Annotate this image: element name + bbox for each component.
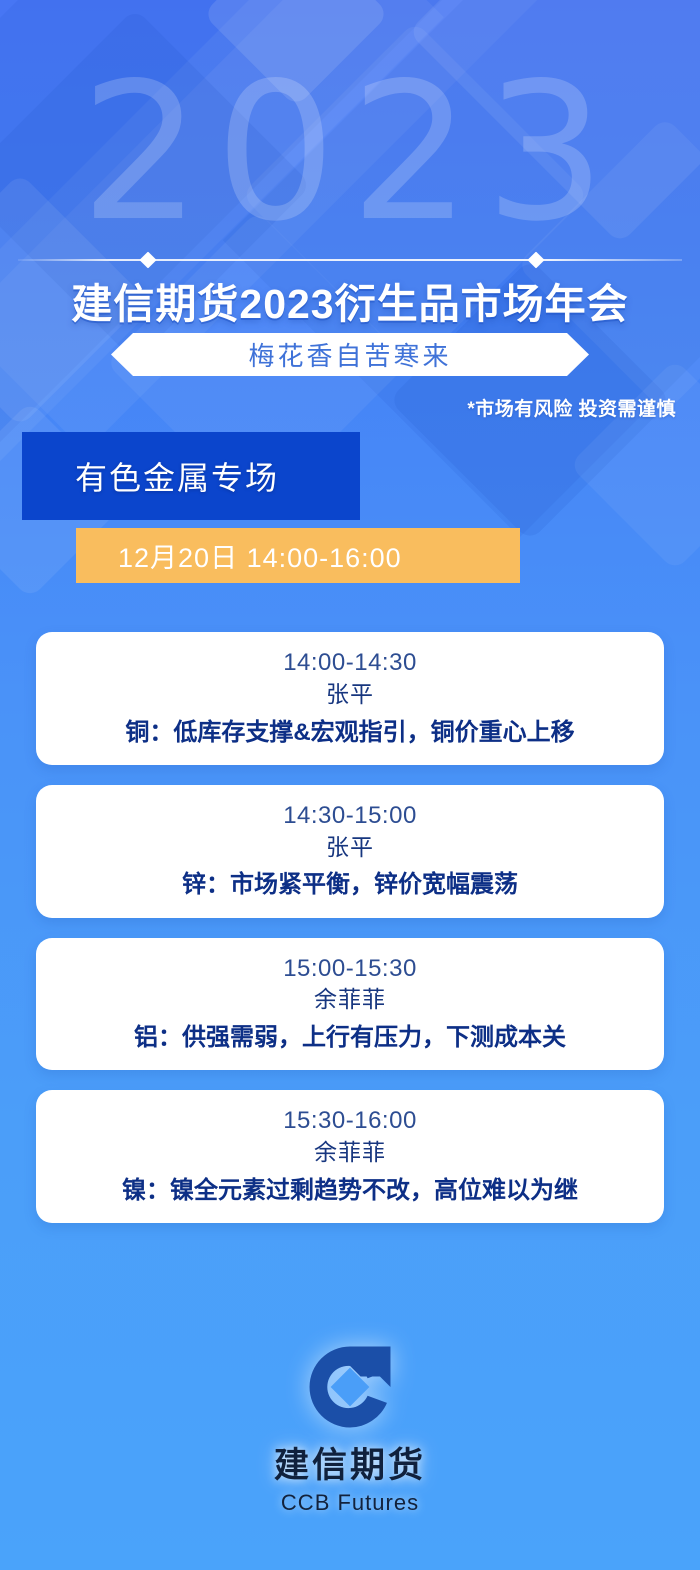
- diamond-marker-left-icon: [140, 252, 157, 269]
- session-title-box: 有色金属专场: [22, 432, 360, 520]
- agenda-speaker: 余菲菲: [50, 1138, 650, 1168]
- ccb-logo-icon: [306, 1343, 394, 1431]
- agenda-time: 14:00-14:30: [50, 648, 650, 679]
- divider-line: [18, 259, 682, 261]
- agenda-topic: 铝：供强需弱，上行有压力，下测成本关: [50, 1022, 650, 1053]
- agenda-time: 14:30-15:00: [50, 801, 650, 832]
- session-datetime-badge: 12月20日 14:00-16:00: [76, 528, 520, 583]
- agenda-topic: 镍：镍全元素过剩趋势不改，高位难以为继: [50, 1175, 650, 1206]
- session-datetime-label: 12月20日 14:00-16:00: [118, 536, 402, 575]
- agenda-speaker: 张平: [50, 833, 650, 863]
- header-divider: [18, 259, 682, 261]
- agenda-time: 15:30-16:00: [50, 1106, 650, 1137]
- diamond-marker-right-icon: [528, 252, 545, 269]
- agenda-speaker: 余菲菲: [50, 985, 650, 1015]
- subtitle-banner: 梅花香自苦寒来: [111, 333, 589, 376]
- agenda-speaker: 张平: [50, 680, 650, 710]
- subtitle-banner-wrap: 梅花香自苦寒来: [0, 333, 700, 376]
- page-title: 建信期货2023衍生品市场年会: [0, 282, 700, 327]
- company-name-cn: 建信期货: [274, 1437, 426, 1488]
- agenda-topic: 锌：市场紧平衡，锌价宽幅震荡: [50, 869, 650, 900]
- agenda-card[interactable]: 15:00-15:30 余菲菲 铝：供强需弱，上行有压力，下测成本关: [36, 938, 664, 1071]
- footer-branding: 建信期货 CCB Futures: [0, 1343, 700, 1516]
- agenda-card[interactable]: 14:30-15:00 张平 锌：市场紧平衡，锌价宽幅震荡: [36, 785, 664, 918]
- agenda-card[interactable]: 14:00-14:30 张平 铜：低库存支撑&宏观指引，铜价重心上移: [36, 632, 664, 765]
- risk-disclaimer: *市场有风险 投资需谨慎: [467, 394, 676, 421]
- agenda-time: 15:00-15:30: [50, 954, 650, 985]
- company-name-en: CCB Futures: [281, 1490, 419, 1516]
- agenda-topic: 铜：低库存支撑&宏观指引，铜价重心上移: [50, 717, 650, 748]
- watermark-year: 2023: [0, 58, 700, 248]
- agenda-card[interactable]: 15:30-16:00 余菲菲 镍：镍全元素过剩趋势不改，高位难以为继: [36, 1090, 664, 1223]
- agenda-list: 14:00-14:30 张平 铜：低库存支撑&宏观指引，铜价重心上移 14:30…: [36, 632, 664, 1243]
- session-title-label: 有色金属专场: [75, 453, 279, 499]
- poster-root: 2023 建信期货2023衍生品市场年会 梅花香自苦寒来 *市场有风险 投资需谨…: [0, 0, 700, 1570]
